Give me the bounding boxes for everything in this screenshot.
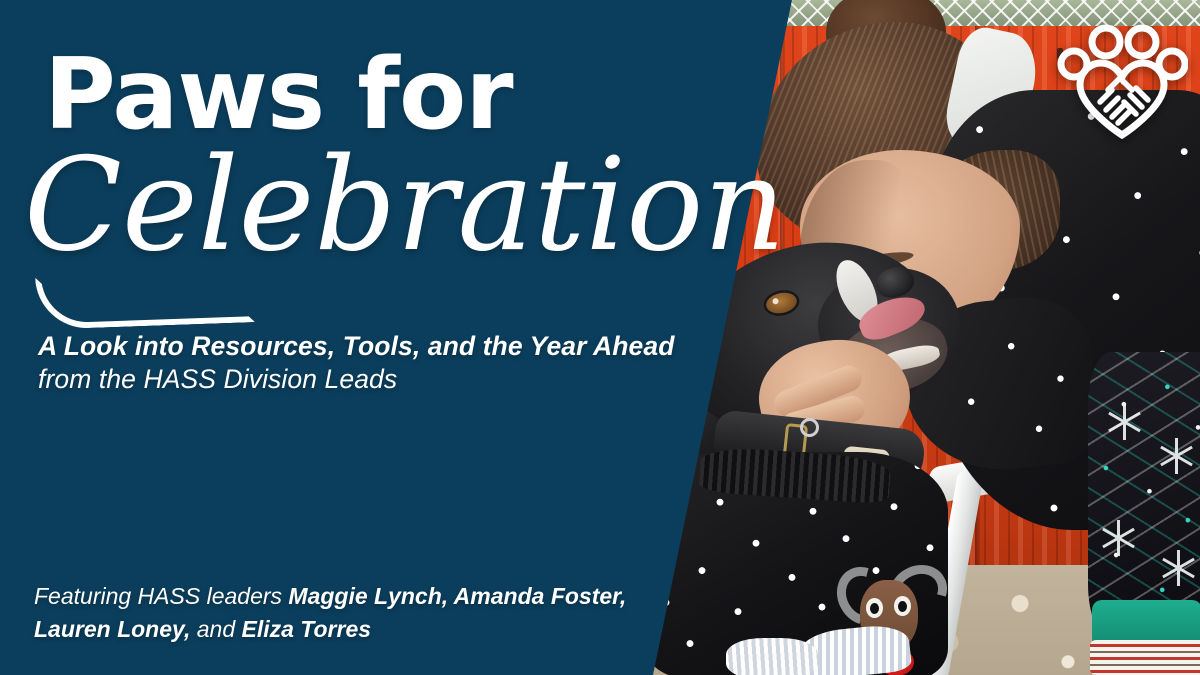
featuring-prefix: Featuring HASS leaders bbox=[34, 583, 288, 609]
script-underline-swash bbox=[35, 270, 255, 330]
featuring-names-second: Eliza Torres bbox=[242, 616, 372, 642]
subtitle-line-1: A Look into Resources, Tools, and the Ye… bbox=[38, 330, 675, 363]
hass-paw-heart-handshake-logo bbox=[1056, 18, 1188, 142]
featuring-credits: Featuring HASS leaders Maggie Lynch, Ama… bbox=[34, 580, 634, 645]
title-text-layer: Paws for Celebration A Look into Resourc… bbox=[0, 0, 1200, 675]
title-line-2-script: Celebration bbox=[24, 142, 786, 270]
title-line-1: Paws for bbox=[44, 46, 513, 144]
heart-pad-icon bbox=[1080, 63, 1164, 135]
subtitle-line-2: from the HASS Division Leads bbox=[38, 363, 675, 396]
featuring-conjunction: and bbox=[190, 616, 241, 642]
paw-toe-icon bbox=[1128, 28, 1156, 56]
subtitle: A Look into Resources, Tools, and the Ye… bbox=[38, 330, 675, 397]
slide-canvas: Paws for Celebration A Look into Resourc… bbox=[0, 0, 1200, 675]
paw-toe-icon bbox=[1092, 28, 1120, 56]
